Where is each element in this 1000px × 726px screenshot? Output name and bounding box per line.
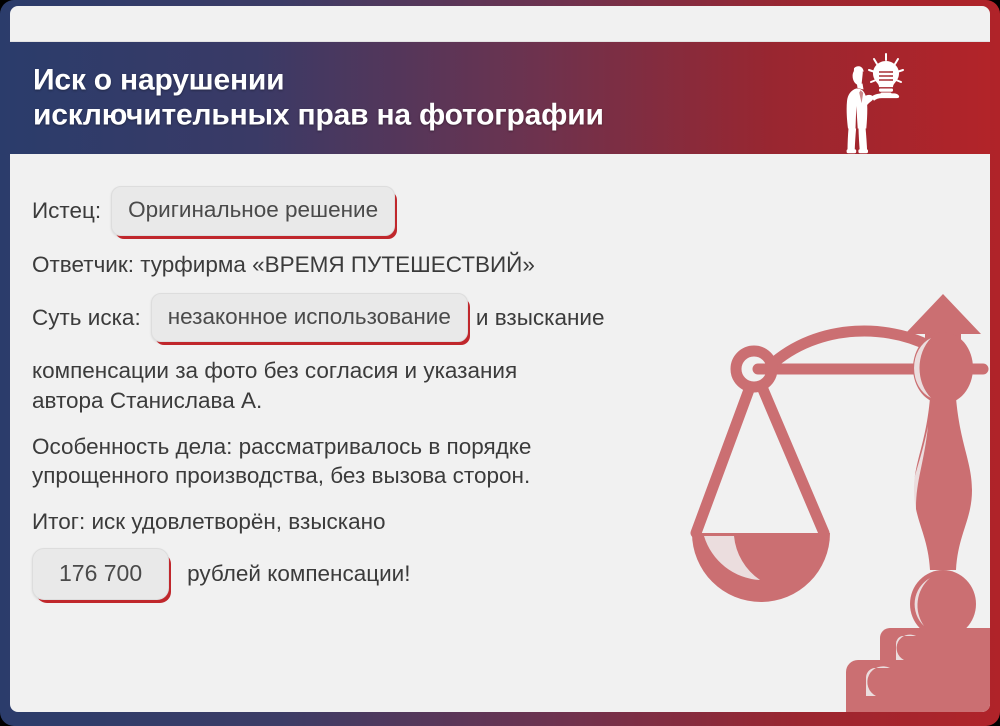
card-header: Иск о нарушении исключительных прав на ф…: [10, 42, 990, 154]
amount-trailing-text: рублей компенсации!: [187, 561, 410, 587]
claim-label: Суть иска:: [32, 305, 141, 331]
case-feature-paragraph: Особенность дела: рассматривалось в поря…: [32, 432, 692, 491]
claim-continuation: компенсации за фото без согласия и указа…: [32, 356, 692, 415]
claim-trailing-text: и взыскание: [476, 305, 605, 331]
page-title: Иск о нарушении исключительных прав на ф…: [33, 63, 604, 134]
plaintiff-label: Истец:: [32, 198, 101, 224]
defendant-line: Ответчик: турфирма «ВРЕМЯ ПУТЕШЕСТВИЙ»: [32, 250, 990, 279]
compensation-amount-pill[interactable]: 176 700: [32, 548, 169, 600]
claim-row: Суть иска: незаконное использование и вз…: [32, 293, 990, 343]
card-body: Истец: Оригинальное решение Ответчик: ту…: [10, 154, 990, 712]
amount-row: 176 700 рублей компенсации!: [32, 548, 990, 600]
plaintiff-pill[interactable]: Оригинальное решение: [111, 186, 395, 236]
plaintiff-row: Истец: Оригинальное решение: [32, 186, 990, 236]
infographic-card: Иск о нарушении исключительных прав на ф…: [0, 0, 1000, 726]
outcome-line: Итог: иск удовлетворён, взыскано: [32, 507, 990, 536]
claim-pill[interactable]: незаконное использование: [151, 293, 468, 343]
businessman-with-lightbulb-icon: [824, 50, 920, 154]
top-blank-strip: [10, 6, 990, 42]
body-content: Истец: Оригинальное решение Ответчик: ту…: [10, 154, 990, 600]
